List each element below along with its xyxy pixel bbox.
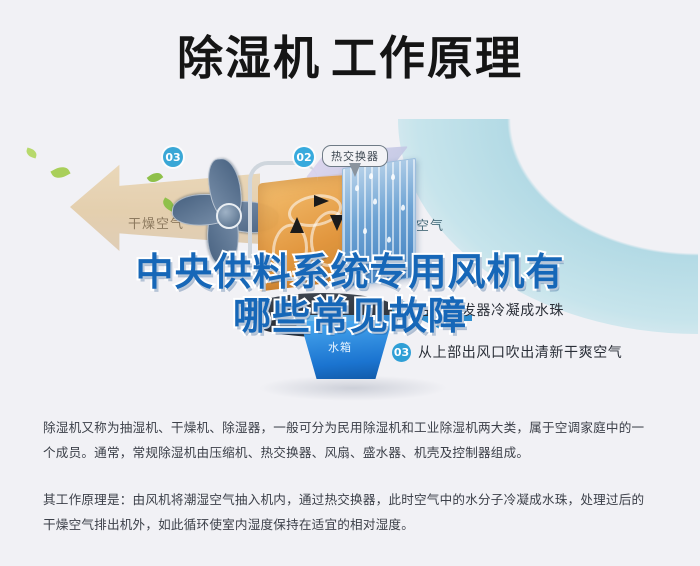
heat-exchanger-fins xyxy=(342,158,416,288)
badge-03-dry-air: 03 xyxy=(163,147,183,167)
condensation-drop xyxy=(369,173,373,180)
badge-02-heat-exchanger: 02 xyxy=(294,147,314,167)
page-root: 除湿机工作原理 01 潮湿空气 干燥空气 03 xyxy=(0,0,700,566)
step-badge: 03 xyxy=(392,343,411,362)
machine-internals xyxy=(258,155,428,295)
leaf-icon xyxy=(50,164,70,182)
title-part-2: 工作原理 xyxy=(331,31,523,85)
fan-hub xyxy=(216,203,242,229)
condensation-drop xyxy=(391,174,395,181)
list-item: 03 从上部出风口吹出清新干爽空气 xyxy=(392,342,692,362)
body-paragraph-1: 除湿机又称为抽湿机、干燥机、除湿器，一般可分为民用除湿机和工业除湿机两大类，属于… xyxy=(43,415,657,465)
refrigerant-pipe xyxy=(248,161,318,281)
process-step-list: 02 经过蒸发器冷凝成水珠 03 从上部出风口吹出清新干爽空气 xyxy=(392,300,692,384)
condensation-drop xyxy=(399,257,403,264)
flow-arrow-left-icon xyxy=(314,195,329,207)
leaf-icon xyxy=(25,147,38,158)
list-item: 02 经过蒸发器冷凝成水珠 xyxy=(392,300,692,320)
flow-arrow-up-icon xyxy=(290,217,304,233)
title-part-1: 除湿机 xyxy=(177,31,321,85)
condensation-drop xyxy=(401,204,405,211)
condensation-drop xyxy=(387,236,391,243)
article-body: 除湿机又称为抽湿机、干燥机、除湿器，一般可分为民用除湿机和工业除湿机两大类，属于… xyxy=(43,415,657,559)
step-badge: 02 xyxy=(392,301,411,320)
condensation-drop xyxy=(373,198,377,205)
body-paragraph-2: 其工作原理是：由风机将潮湿空气抽入机内，通过热交换器，此时空气中的水分子冷凝成水… xyxy=(43,487,657,537)
condensation-drop xyxy=(379,261,383,268)
condensation-drop xyxy=(363,228,367,235)
step-text: 从上部出风口吹出清新干爽空气 xyxy=(418,342,622,362)
step-text: 经过蒸发器冷凝成水珠 xyxy=(418,300,564,320)
condensation-drop xyxy=(355,185,359,192)
page-title: 除湿机工作原理 xyxy=(0,28,700,88)
condensation-drop xyxy=(351,255,355,262)
callout-pointer-icon xyxy=(349,163,361,177)
water-tank-label: 水箱 xyxy=(328,339,352,355)
